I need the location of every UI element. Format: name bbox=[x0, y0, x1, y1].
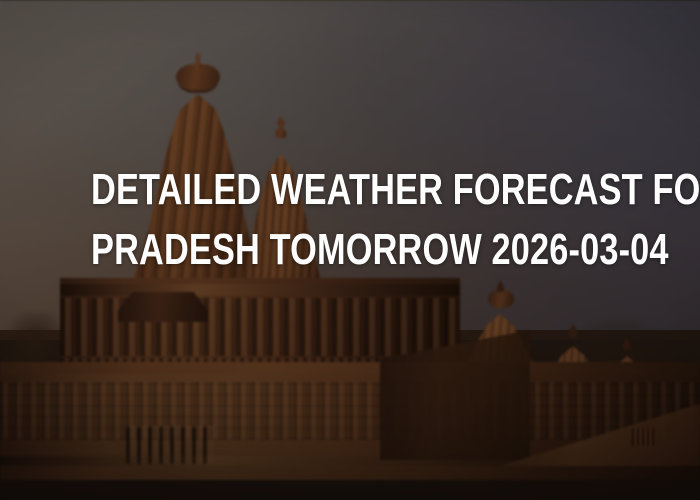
weather-hero-banner: Detailed Weather Forecast For Madhya Pra… bbox=[0, 0, 700, 500]
page-title-line-2: Pradesh Tomorrow 2026-03-04 bbox=[91, 220, 609, 280]
page-title-line-1: Detailed Weather Forecast For Madhya bbox=[91, 165, 700, 214]
hero-title-block: Detailed Weather Forecast For Madhya Pra… bbox=[0, 160, 700, 280]
page-title: Detailed Weather Forecast For Madhya Pra… bbox=[91, 160, 609, 280]
